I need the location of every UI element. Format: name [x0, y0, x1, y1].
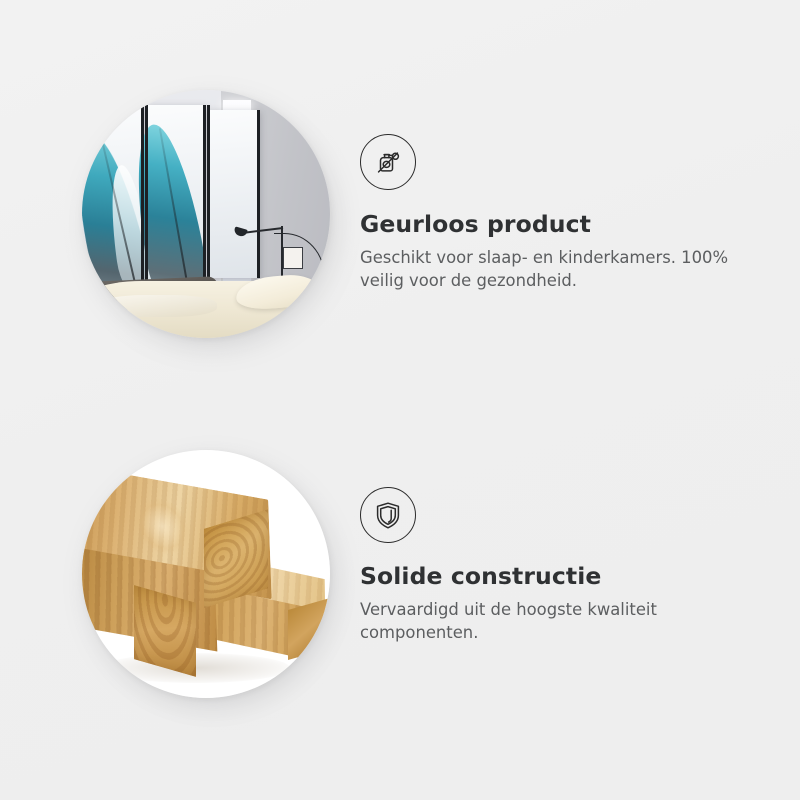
panel-edge-5	[257, 110, 260, 279]
panel-edge-4	[207, 105, 210, 284]
feature-page: Geurloos product Geschikt voor slaap- en…	[0, 0, 800, 800]
product-image-feathers-canvas	[82, 90, 330, 338]
feature-info-odourless: Geurloos product Geschikt voor slaap- en…	[360, 90, 760, 293]
product-image-wood	[82, 450, 330, 698]
panel-edge-2	[145, 105, 148, 284]
no-fragrance-icon	[360, 134, 416, 190]
wooden-beams-scene	[82, 450, 330, 698]
feature-info-solid-construction: Solide constructie Vervaardigd uit de ho…	[360, 450, 760, 645]
feature-title: Solide constructie	[360, 564, 760, 590]
panel-edge-1	[141, 105, 144, 284]
feature-description: Geschikt voor slaap- en kinderkamers. 10…	[360, 246, 752, 293]
canvas-panel-3	[208, 110, 258, 279]
beam-shadow	[102, 653, 290, 683]
feature-description: Vervaardigd uit de hoogste kwaliteit com…	[360, 598, 752, 645]
panel-edge-3	[203, 105, 206, 284]
picture-frame	[283, 247, 302, 269]
bedroom-scene	[82, 90, 330, 338]
product-image-wood-canvas	[82, 450, 330, 698]
shield-icon	[360, 487, 416, 543]
product-image-feathers	[82, 90, 330, 338]
feature-title: Geurloos product	[360, 212, 760, 238]
